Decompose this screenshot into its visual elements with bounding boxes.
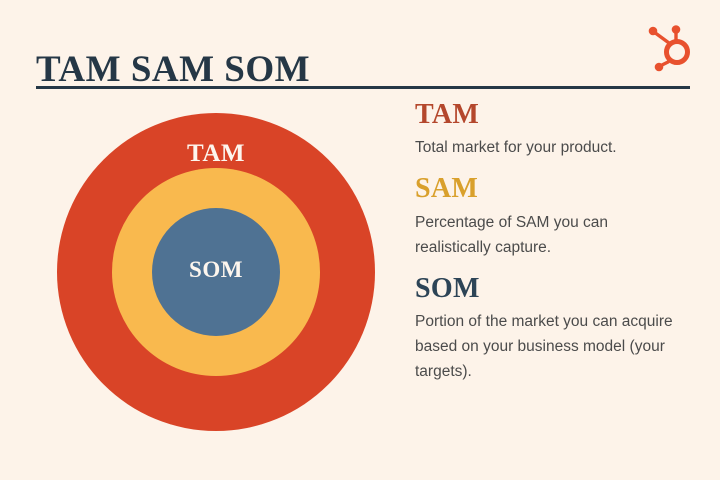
legend-item-sam: SAM Percentage of SAM you can realistica… [415, 174, 687, 259]
legend-term-som: SOM [415, 274, 687, 304]
legend-description-sam: Percentage of SAM you can realistically … [415, 210, 687, 260]
legend-term-tam: TAM [415, 100, 687, 130]
legend-description-tam: Total market for your product. [415, 135, 687, 160]
legend-item-tam: TAM Total market for your product. [415, 100, 687, 160]
legend-item-som: SOM Portion of the market you can acquir… [415, 274, 687, 385]
page-title: TAM SAM SOM [36, 51, 310, 88]
tam-sam-som-circles-diagram: TAM SAM SOM [57, 113, 375, 431]
hubspot-sprocket-icon [642, 22, 698, 74]
circle-label-som: SOM [189, 257, 243, 336]
legend-term-sam: SAM [415, 174, 687, 204]
header-divider [36, 86, 690, 89]
definitions-legend: TAM Total market for your product. SAM P… [415, 100, 687, 384]
legend-description-som: Portion of the market you can acquire ba… [415, 309, 687, 384]
circle-som: SOM [152, 208, 280, 336]
infographic-page: TAM SAM SOM TAM SAM SOM TAM Total [0, 0, 720, 480]
